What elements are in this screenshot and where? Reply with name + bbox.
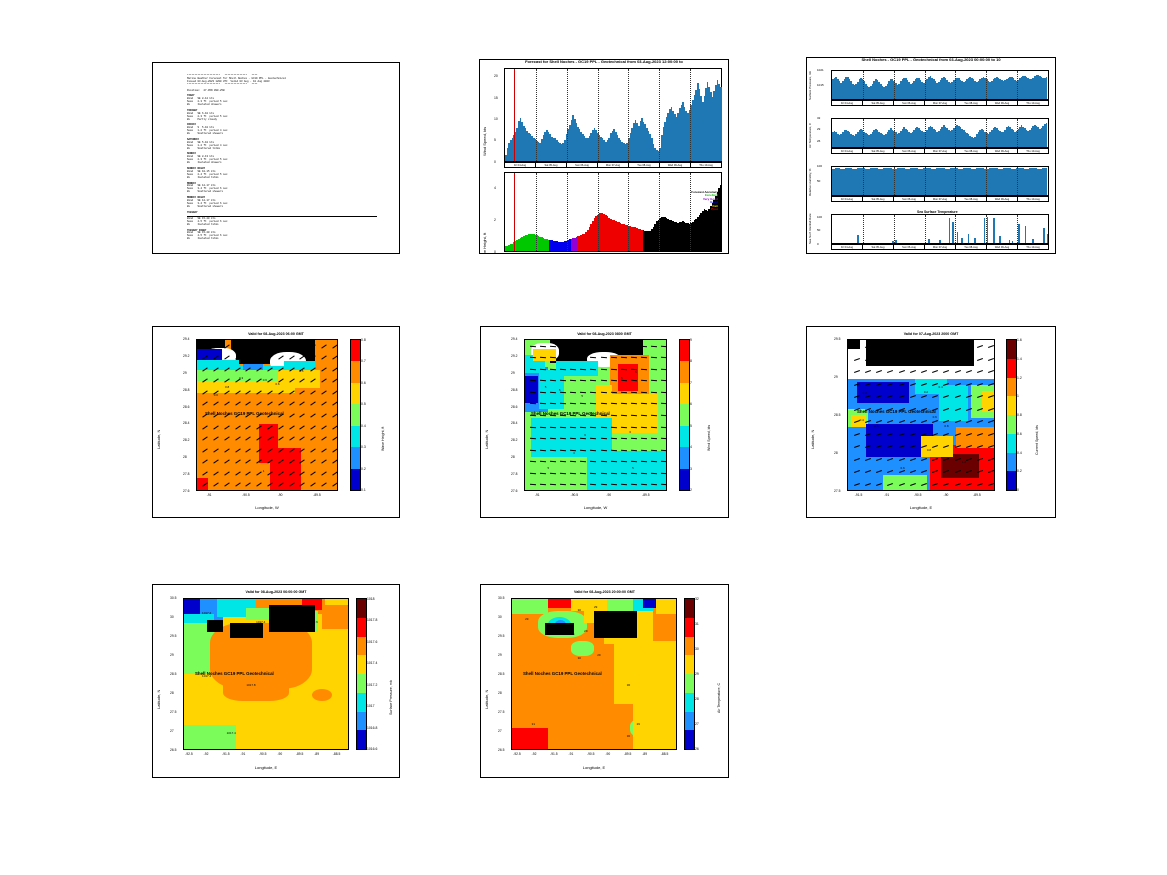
bar (1046, 123, 1048, 148)
map-y-tick: 28.6 (183, 405, 189, 409)
colorbar-segment (357, 618, 366, 637)
bar (952, 222, 954, 243)
colorbar-tick: 27 (695, 722, 699, 726)
map-y-tick: 28 (183, 455, 187, 459)
wind-vector-arrow (600, 426, 606, 428)
colorbar-tick: 0.6 (361, 381, 366, 385)
wind-vector-arrow (530, 346, 536, 348)
wind-wave-timeseries-panel: Forecast for Shell Noches - GC19 PPL - G… (479, 59, 729, 254)
colorbar-segment (680, 404, 689, 425)
colorbar-tick: 1.6 (1017, 338, 1022, 342)
legend-item: Poor (691, 208, 718, 211)
gridline (925, 167, 926, 195)
map-y-tick: 29 (183, 371, 187, 375)
wind-wave-title: Forecast for Shell Noches - GC19 PPL - G… (480, 59, 728, 64)
map-x-tick: -91 (569, 752, 574, 756)
y-tick: 50 (817, 228, 820, 232)
map-x-tick: -88.5 (333, 752, 341, 756)
wind-vector-arrow (621, 449, 627, 451)
map-x-tick: -92 (204, 752, 209, 756)
gridline (925, 215, 926, 243)
colorbar-tick: 31 (695, 622, 699, 626)
wind-vector-arrow (641, 438, 647, 440)
colorbar-segment (680, 426, 689, 447)
day-cell: Fri 04-Aug (832, 101, 863, 105)
forecast-accuracy-legend: Forecast AccuracyExcellentVery GoodGoodF… (691, 191, 718, 211)
day-cell: Sat 05-Aug (863, 197, 894, 201)
y-tick: 5 (494, 138, 496, 142)
colorbar-segment (351, 447, 360, 468)
y-tick: 10 (494, 117, 498, 121)
wind-vector-arrow (661, 380, 667, 382)
map-x-tick: -91.5 (550, 752, 558, 756)
bar (1018, 224, 1020, 243)
map-x-tick: -92 (532, 752, 537, 756)
map-y-tick: 30.5 (170, 596, 176, 600)
wind-vector-arrow (600, 346, 606, 348)
surface-pressure-day-strip: Fri 04-AugSat 05-AugSun 06-AugMon 07-Aug… (831, 100, 1049, 106)
colorbar-segment (1007, 378, 1016, 397)
map-x-tick: -92.5 (185, 752, 193, 756)
gridline (690, 69, 691, 161)
wind-vector-arrow (631, 426, 637, 428)
wind-vector-arrow (641, 472, 647, 474)
colorbar-segment (685, 618, 694, 637)
wind-vector-arrow (580, 346, 586, 348)
wind-vector-arrow (530, 426, 536, 428)
map-y-tick: 29 (170, 653, 174, 657)
wind-vector-arrow (590, 369, 596, 371)
map-y-tick: 28.8 (183, 388, 189, 392)
bar (957, 232, 959, 243)
map-y-tick: 28 (498, 691, 502, 695)
day-cell: Wed 09-Aug (987, 197, 1018, 201)
gridline (863, 71, 864, 99)
map-x-tick: -91 (207, 493, 212, 497)
y-tick: 2 (494, 218, 496, 222)
map-y-tick: 27.5 (170, 710, 176, 714)
wave-height-map-title: Valid for 08-Aug-2023 06:00 GMT (153, 332, 399, 336)
current-speed-map-panel: Valid for 07-Aug-2023 2000 GMT Latitude,… (806, 326, 1056, 518)
day-cell: Sun 06-Aug (894, 197, 925, 201)
wind-vector-arrow (530, 369, 536, 371)
colorbar-segment (685, 655, 694, 674)
wind-vector-arrow (560, 449, 566, 451)
surface-pressure-ylabel: Surface Pressure, mb (808, 70, 812, 100)
wind-vector-arrow (560, 426, 566, 428)
bar (1047, 234, 1049, 243)
bar (1043, 228, 1045, 243)
wave-height-map-xlabel: Longitude, W (196, 505, 338, 510)
gridline (894, 167, 895, 195)
day-cell: Tue 08-Aug (629, 163, 660, 167)
wind-vector-arrow (570, 449, 576, 451)
wind-vector-arrow (540, 426, 546, 428)
map-y-tick: 28.5 (834, 413, 840, 417)
gridline (986, 71, 987, 99)
colorbar-segment (680, 361, 689, 382)
map-x-tick: -90 (605, 752, 610, 756)
wind-vector-arrow (550, 369, 556, 371)
map-x-tick: -90.5 (587, 752, 595, 756)
wind-vector-arrow (540, 369, 546, 371)
gridline (628, 69, 629, 161)
map-x-tick: -89.5 (296, 752, 304, 756)
map-x-tick: -91.5 (222, 752, 230, 756)
wind-vector-arrow (631, 369, 637, 371)
y-tick: 1021 (817, 68, 824, 72)
map-y-tick: 29.5 (170, 634, 176, 638)
day-cell: Wed 09-Aug (987, 245, 1018, 249)
wind-vector-arrow (651, 426, 657, 428)
colorbar-tick: 6 (690, 402, 692, 406)
map-x-tick: -90 (944, 493, 949, 497)
day-cell: Sat 05-Aug (863, 101, 894, 105)
colorbar-segment (357, 674, 366, 693)
map-y-tick: 29.4 (183, 337, 189, 341)
wind-vector-arrow (651, 449, 657, 451)
bar (1012, 241, 1014, 243)
wind-vector-arrow (560, 346, 566, 348)
bar (949, 218, 951, 243)
colorbar-tick: 1.4 (1017, 357, 1022, 361)
map-y-tick: 29 (498, 653, 502, 657)
map-y-tick: 30 (170, 615, 174, 619)
bar (1032, 239, 1034, 243)
y-tick: 0 (817, 242, 819, 246)
colorbar-tick: 28 (695, 697, 699, 701)
map-x-tick: -89 (642, 752, 647, 756)
wind-vector-arrow (661, 357, 667, 359)
gridline (1017, 167, 1018, 195)
site-label-wave-map: Shell Noches GC19 PPL Geotechnical (205, 411, 284, 416)
wind-vector-arrow (631, 346, 637, 348)
wind-speed-map-ylabel: Latitude, N (484, 379, 489, 449)
gridline (690, 173, 691, 251)
current-speed-map-area[interactable]: 0.2 0.2 0.4 0.4 0.6 0.6 0.8 0.8 1.2 0.6 (847, 339, 995, 491)
gridline (659, 69, 660, 161)
map-x-tick: -90.5 (242, 493, 250, 497)
wind-vector-arrow (661, 472, 667, 474)
wind-vector-arrow (641, 449, 647, 451)
y-tick: 1015 (817, 83, 824, 87)
colorbar-tick: 1 (1017, 394, 1019, 398)
map-y-tick: 29.2 (183, 354, 189, 358)
map-x-tick: -90 (606, 493, 611, 497)
map-y-tick: 28.4 (511, 421, 517, 425)
colorbar-segment (685, 712, 694, 731)
colorbar-tick: 0 (1017, 488, 1019, 492)
wind-vector-arrow (661, 426, 667, 428)
day-cell: Thu 10-Aug (1018, 197, 1048, 201)
gridline (955, 71, 956, 99)
colorbar-tick: 0.2 (1017, 469, 1022, 473)
wind-vector-arrow (661, 415, 667, 417)
gridline (955, 215, 956, 243)
gridline (567, 173, 568, 251)
day-cell: Mon 07-Aug (925, 197, 956, 201)
day-cell: Sun 06-Aug (567, 163, 598, 167)
gridline (863, 119, 864, 147)
day-cell: Thu 10-Aug (691, 163, 721, 167)
day-cell: Mon 07-Aug (598, 163, 629, 167)
day-cell: Sat 05-Aug (536, 163, 567, 167)
wind-vector-arrow (651, 472, 657, 474)
gridline (659, 173, 660, 251)
bar (961, 238, 963, 243)
colorbar-segment (351, 426, 360, 447)
wave-height-axes: Forecast AccuracyExcellentVery GoodGoodF… (504, 172, 722, 252)
sea-state-precipitation-axes (831, 214, 1049, 244)
wind-vector-arrow (590, 392, 596, 394)
wind-vector-arrow (641, 346, 647, 348)
map-y-tick: 28 (511, 455, 515, 459)
colorbar-segment (685, 599, 694, 618)
wind-speed-map-panel: Valid for 08-Aug-2023 0800 GMT Latitude,… (480, 326, 729, 518)
wind-vector-arrow (580, 426, 586, 428)
colorbar-tick: 0.8 (361, 338, 366, 342)
day-cell: Sun 06-Aug (894, 149, 925, 153)
gridline (894, 119, 895, 147)
colorbar-tick: 0.4 (1017, 451, 1022, 455)
met-title: Shell Noches - GC19 PPL - Geotechnical f… (807, 57, 1055, 62)
wind-vector-arrow (540, 472, 546, 474)
wind-vector-arrow (590, 449, 596, 451)
day-cell: Mon 07-Aug (925, 245, 956, 249)
map-x-tick: -90 (277, 752, 282, 756)
wind-vector-arrow (590, 346, 596, 348)
colorbar-tick: 32 (695, 597, 699, 601)
day-cell: Tue 08-Aug (956, 101, 987, 105)
map-y-tick: 27.5 (498, 710, 504, 714)
wind-vector-arrow (611, 449, 617, 451)
colorbar-tick: 1017.2 (367, 683, 377, 687)
day-cell: Thu 10-Aug (1018, 245, 1048, 249)
colorbar-tick: 0.5 (361, 402, 366, 406)
gridline (955, 119, 956, 147)
bar (1009, 240, 1011, 243)
colorbar-segment (1007, 359, 1016, 378)
day-cell: Tue 08-Aug (956, 245, 987, 249)
map-y-tick: 28.8 (511, 388, 517, 392)
map-y-tick: 29.5 (834, 337, 840, 341)
day-cell: Fri 04-Aug (832, 245, 863, 249)
map-y-tick: 30 (498, 615, 502, 619)
colorbar-tick: 1016.8 (367, 726, 377, 730)
day-cell: Mon 07-Aug (925, 149, 956, 153)
y-tick: 29 (817, 127, 820, 131)
wind-vector-arrow (611, 472, 617, 474)
wind-speed-colorbar: 98765432 (679, 339, 690, 491)
colorbar-tick: 0.2 (361, 467, 366, 471)
wind-vector-arrow (590, 426, 596, 428)
wind-vector-arrow (600, 472, 606, 474)
colorbar-segment (680, 383, 689, 404)
air-temperature-ylabel: Air Temperature, C (808, 118, 812, 148)
wind-vector-arrow (590, 380, 596, 382)
colorbar-segment (351, 469, 360, 490)
gridline (598, 69, 599, 161)
wind-speed-map-title: Valid for 08-Aug-2023 0800 GMT (481, 332, 728, 336)
colorbar-segment (357, 655, 366, 674)
colorbar-segment (357, 599, 366, 618)
wind-speed-ylabel: Wind Speed, kts (482, 78, 487, 156)
gridline (863, 215, 864, 243)
wind-vector-arrow (580, 369, 586, 371)
wind-speed-map-xlabel: Longitude, W (524, 505, 667, 510)
map-y-tick: 29.4 (511, 337, 517, 341)
air-temperature-map-panel: Valid for 08-Aug-2023 20:00:00 GMT Latit… (480, 584, 729, 778)
colorbar-tick: 1018 (367, 597, 375, 601)
day-cell: Mon 07-Aug (925, 101, 956, 105)
air-temperature-day-strip: Fri 04-AugSat 05-AugSun 06-AugMon 07-Aug… (831, 148, 1049, 154)
wind-vector-arrow (550, 449, 556, 451)
air-temperature-map-xlabel: Longitude, E (511, 765, 677, 770)
bar (999, 236, 1001, 243)
colorbar-tick: 0.1 (361, 488, 366, 492)
bar (1046, 77, 1048, 99)
wind-vector-arrow (631, 438, 637, 440)
wind-vector-arrow (600, 449, 606, 451)
bar (993, 218, 995, 243)
map-y-tick: 28.2 (183, 438, 189, 442)
gridline (598, 173, 599, 251)
gridline (536, 69, 537, 161)
wind-vector-arrow (621, 438, 627, 440)
day-cell: Fri 04-Aug (505, 163, 536, 167)
bar (1046, 168, 1048, 195)
colorbar-segment (351, 383, 360, 404)
map-y-tick: 27 (498, 729, 502, 733)
wind-vector-arrow (570, 369, 576, 371)
colorbar-segment (685, 637, 694, 656)
wind-vector-arrow (570, 472, 576, 474)
map-y-tick: 29.2 (511, 354, 517, 358)
colorbar-segment (1007, 453, 1016, 472)
day-cell: Thu 10-Aug (1018, 101, 1048, 105)
map-x-tick: -90.5 (914, 493, 922, 497)
gridline (925, 71, 926, 99)
surface-pressure-axes (831, 70, 1049, 100)
day-cell: Sat 05-Aug (863, 245, 894, 249)
bar (984, 218, 986, 243)
wind-vector-arrow (611, 346, 617, 348)
wind-vector-arrow (661, 438, 667, 440)
gridline (1017, 119, 1018, 147)
day-cell: Wed 09-Aug (660, 163, 691, 167)
wind-vector-arrow (580, 380, 586, 382)
wind-vector-arrow (621, 346, 627, 348)
colorbar-tick: 2 (690, 488, 692, 492)
colorbar-tick: 3 (690, 467, 692, 471)
report-line: Wx Isolated tstms (187, 238, 393, 241)
current-speed-map-ylabel: Latitude, N (810, 379, 815, 449)
map-y-tick: 26.5 (498, 748, 504, 752)
bar (968, 234, 970, 243)
colorbar-segment (351, 404, 360, 425)
day-cell: Tue 08-Aug (956, 197, 987, 201)
map-y-tick: 28.4 (183, 421, 189, 425)
wind-vector-arrow (570, 426, 576, 428)
colorbar-segment (685, 674, 694, 693)
forecast-report-text: ********************** *************** *… (187, 75, 393, 241)
colorbar-segment (1007, 340, 1016, 359)
colorbar-segment (680, 469, 689, 490)
relative-humidity-day-strip: Fri 04-AugSat 05-AugSun 06-AugMon 07-Aug… (831, 196, 1049, 202)
map-y-tick: 26.5 (170, 748, 176, 752)
bar (720, 185, 722, 251)
map-x-tick: -89.5 (973, 493, 981, 497)
colorbar-segment (1007, 471, 1016, 490)
wind-vector-arrow (641, 426, 647, 428)
wave-height-cbtitle: Wave Height, ft (381, 377, 385, 451)
wind-vector-arrow (661, 369, 667, 371)
colorbar-tick: 1017.4 (367, 661, 377, 665)
forecast-report-panel: ********************** *************** *… (152, 62, 400, 254)
gridline (986, 119, 987, 147)
wind-vector-arrow (560, 472, 566, 474)
map-x-tick: -89.5 (624, 752, 632, 756)
colorbar-tick: 0.4 (361, 424, 366, 428)
map-x-tick: -91 (884, 493, 889, 497)
colorbar-segment (685, 730, 694, 749)
gridline (955, 167, 956, 195)
gridline (925, 119, 926, 147)
site-label-airtemp-map: Shell Noches GC19 PPL Geotechnical (523, 671, 602, 676)
sst-overlay-note: Sea Surface Temperature (917, 210, 958, 214)
air-temperature-map-ylabel: Latitude, N (484, 639, 489, 709)
air-temperature-cbtitle: Air Temperature, C (717, 631, 721, 713)
current-speed-map-xlabel: Longitude, E (847, 505, 995, 510)
wind-vector-arrow (570, 392, 576, 394)
colorbar-tick: 1017.6 (367, 640, 377, 644)
wind-vector-arrow (570, 346, 576, 348)
colorbar-tick: 5 (690, 424, 692, 428)
gridline (894, 215, 895, 243)
wind-day-strip: Fri 04-AugSat 05-AugSun 06-AugMon 07-Aug… (504, 162, 722, 168)
map-x-tick: -91 (535, 493, 540, 497)
colorbar-segment (351, 340, 360, 361)
map-y-tick: 27 (170, 729, 174, 733)
bar (857, 235, 859, 243)
map-y-tick: 28.2 (511, 438, 517, 442)
map-y-tick: 28 (170, 691, 174, 695)
colorbar-tick: 4 (690, 445, 692, 449)
y-tick: 50 (817, 179, 820, 183)
colorbar-segment (351, 361, 360, 382)
bar (974, 238, 976, 243)
y-tick: 0 (494, 160, 496, 164)
colorbar-tick: 1016.6 (367, 747, 377, 751)
surface-pressure-map-xlabel: Longitude, E (183, 765, 349, 770)
bar (895, 240, 897, 243)
map-x-tick: -89.5 (313, 493, 321, 497)
y-tick: 32 (817, 116, 820, 120)
day-cell: Wed 09-Aug (987, 101, 1018, 105)
wind-vector-arrow (651, 346, 657, 348)
gridline (894, 71, 895, 99)
wind-vector-arrow (661, 403, 667, 405)
bar (1025, 226, 1027, 243)
relative-humidity-axes (831, 166, 1049, 196)
map-x-tick: -91.5 (855, 493, 863, 497)
colorbar-segment (357, 730, 366, 749)
wind-vector-arrow (550, 472, 556, 474)
bar (928, 239, 930, 243)
colorbar-tick: 0.7 (361, 359, 366, 363)
day-cell: Tue 08-Aug (956, 149, 987, 153)
gridline (628, 173, 629, 251)
